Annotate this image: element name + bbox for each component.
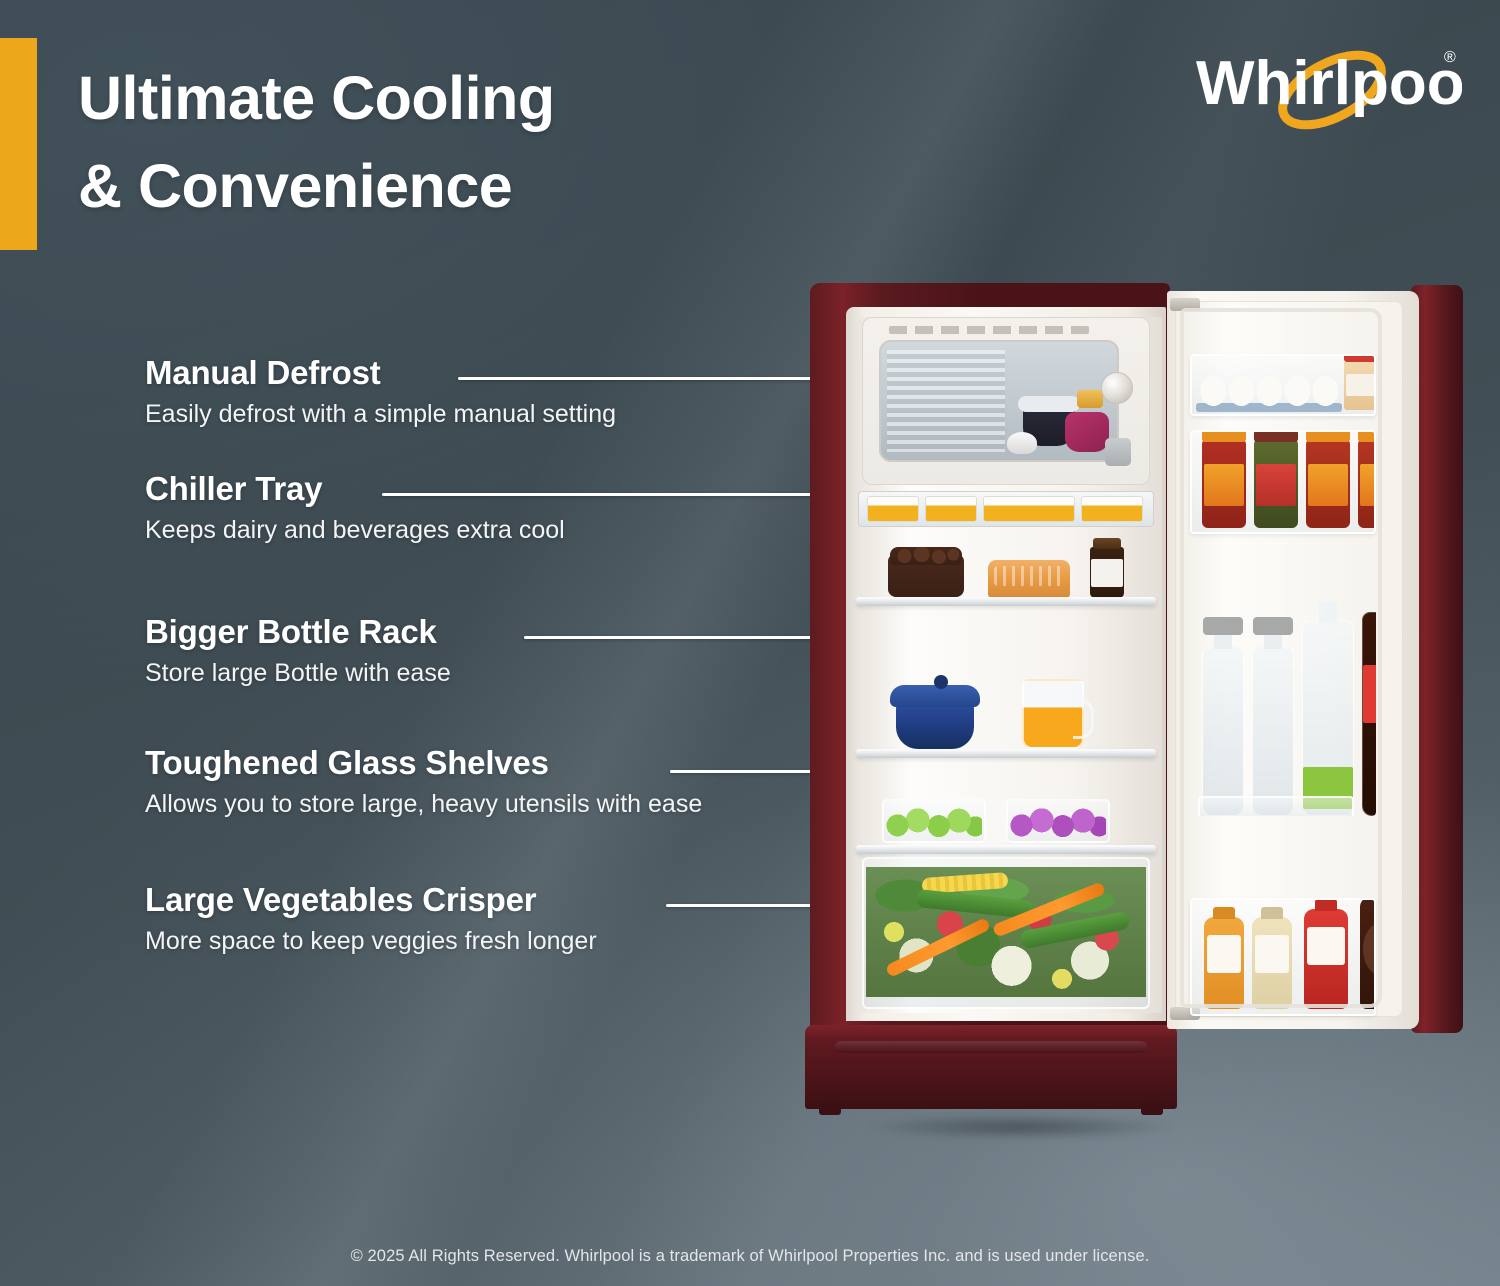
jar-cap bbox=[1254, 430, 1298, 442]
door-inner-panel bbox=[1167, 291, 1419, 1029]
sprouts-container bbox=[882, 799, 986, 843]
freezer-door-window bbox=[879, 340, 1119, 462]
jar-cap bbox=[1202, 430, 1246, 442]
strawberry-syrup-bottle bbox=[1304, 909, 1348, 1009]
chiller-pack bbox=[1081, 496, 1143, 522]
freezer-thermostat-knob[interactable] bbox=[1101, 372, 1133, 404]
bottle-label bbox=[1363, 665, 1376, 723]
infographic-canvas: Ultimate Cooling & Convenience Whirlpool… bbox=[0, 0, 1500, 1286]
bottle-label bbox=[1255, 935, 1289, 973]
cooking-pot bbox=[896, 701, 974, 749]
freezer-vent-grille-icon bbox=[889, 326, 1089, 334]
bottle-rack-rail bbox=[1198, 796, 1354, 816]
refrigerator-product-image bbox=[795, 283, 1465, 1123]
door-egg-tray-bin[interactable] bbox=[1190, 354, 1376, 416]
jar-label bbox=[1256, 464, 1296, 506]
chocolate-syrup-bottle bbox=[1360, 898, 1376, 1009]
copyright-footer: © 2025 All Rights Reserved. Whirlpool is… bbox=[0, 1247, 1500, 1266]
floor-shadow bbox=[805, 1109, 1235, 1145]
feature-large-vegetables-crisper: Large Vegetables Crisper More space to k… bbox=[145, 882, 597, 956]
feature-title: Bigger Bottle Rack bbox=[145, 614, 437, 650]
jar-label bbox=[1308, 464, 1348, 506]
refrigerator-cabinet bbox=[810, 283, 1170, 1031]
mustard-bottle bbox=[1204, 917, 1244, 1009]
base-foot bbox=[1141, 1103, 1163, 1115]
jar-label bbox=[1204, 464, 1244, 506]
chiller-pack bbox=[983, 496, 1075, 522]
glass-shelf bbox=[856, 845, 1156, 854]
frozen-food-pack bbox=[1065, 412, 1109, 452]
eggs bbox=[1198, 376, 1338, 406]
chiller-tub bbox=[867, 496, 919, 522]
door-bottle-rack[interactable] bbox=[1190, 602, 1376, 816]
jar-cap bbox=[1358, 430, 1376, 442]
jar-cap bbox=[1344, 354, 1376, 362]
jar-cap bbox=[1306, 430, 1350, 442]
soda-bottle-green bbox=[1302, 620, 1354, 816]
feature-description: Allows you to store large, heavy utensil… bbox=[145, 790, 702, 820]
feature-toughened-glass-shelves: Toughened Glass Shelves Allows you to st… bbox=[145, 745, 702, 819]
sauce-jar bbox=[1306, 440, 1350, 528]
sauce-jar bbox=[1202, 440, 1246, 528]
chiller-tub bbox=[925, 496, 977, 522]
cola-bottle bbox=[1362, 612, 1376, 816]
frozen-snack-pack bbox=[1077, 390, 1103, 408]
vegetable-crisper-drawer[interactable] bbox=[862, 857, 1150, 1009]
jar-label bbox=[1346, 374, 1376, 396]
feature-description: Store large Bottle with ease bbox=[145, 659, 451, 689]
chiller-tray[interactable] bbox=[858, 491, 1154, 527]
spread-jar bbox=[1344, 360, 1376, 410]
refrigerator-base-stand bbox=[805, 1025, 1177, 1109]
door-liner bbox=[1175, 301, 1403, 1017]
bottle-neck bbox=[1319, 602, 1337, 623]
bottle-cap bbox=[1213, 907, 1235, 919]
jar-label bbox=[1360, 464, 1376, 506]
bread-loaf bbox=[988, 560, 1070, 598]
feature-bigger-bottle-rack: Bigger Bottle Rack Store large Bottle wi… bbox=[145, 614, 451, 688]
water-bottle bbox=[1252, 646, 1294, 816]
bottle-cap bbox=[1261, 907, 1283, 919]
bottle-cap bbox=[1253, 617, 1293, 635]
bottle-cap bbox=[1203, 617, 1243, 635]
feature-title: Chiller Tray bbox=[145, 471, 322, 507]
door-condiment-bin[interactable] bbox=[1190, 430, 1376, 534]
feature-title: Toughened Glass Shelves bbox=[145, 745, 549, 781]
bottle-label bbox=[1207, 935, 1241, 973]
bottle-cap bbox=[1371, 898, 1376, 899]
feature-title: Large Vegetables Crisper bbox=[145, 882, 536, 918]
glass-shelf bbox=[856, 597, 1156, 606]
peanut-butter-jar bbox=[1090, 547, 1124, 598]
door-sauce-bin[interactable] bbox=[1190, 898, 1376, 1016]
base-foot bbox=[819, 1103, 841, 1115]
onions-container bbox=[1006, 799, 1110, 843]
water-bottle bbox=[1202, 646, 1244, 816]
feature-chiller-tray: Chiller Tray Keeps dairy and beverages e… bbox=[145, 471, 565, 545]
feature-description: Keeps dairy and beverages extra cool bbox=[145, 516, 565, 546]
feature-description: Easily defrost with a simple manual sett… bbox=[145, 400, 616, 430]
chocolate-cake bbox=[888, 555, 964, 597]
bottle-label bbox=[1363, 921, 1376, 977]
refrigerator-door[interactable] bbox=[1167, 285, 1463, 1033]
bottle-cap bbox=[1315, 899, 1337, 911]
feature-description: More space to keep veggies fresh longer bbox=[145, 927, 597, 957]
bottle-label bbox=[1307, 927, 1345, 965]
feature-manual-defrost: Manual Defrost Easily defrost with a sim… bbox=[145, 355, 616, 429]
glass-shelf bbox=[856, 749, 1156, 758]
door-hinge-top bbox=[1170, 298, 1200, 311]
chutney-jar bbox=[1358, 440, 1376, 528]
feature-title: Manual Defrost bbox=[145, 355, 381, 391]
freezer-compartment bbox=[862, 317, 1150, 485]
freezer-contents bbox=[1001, 386, 1111, 456]
manual-defrost-button[interactable] bbox=[1105, 438, 1131, 466]
pickle-jar bbox=[1254, 440, 1298, 528]
mayonnaise-bottle bbox=[1252, 917, 1292, 1009]
ice-scoop bbox=[1007, 432, 1037, 454]
juice-pitcher bbox=[1022, 679, 1084, 749]
